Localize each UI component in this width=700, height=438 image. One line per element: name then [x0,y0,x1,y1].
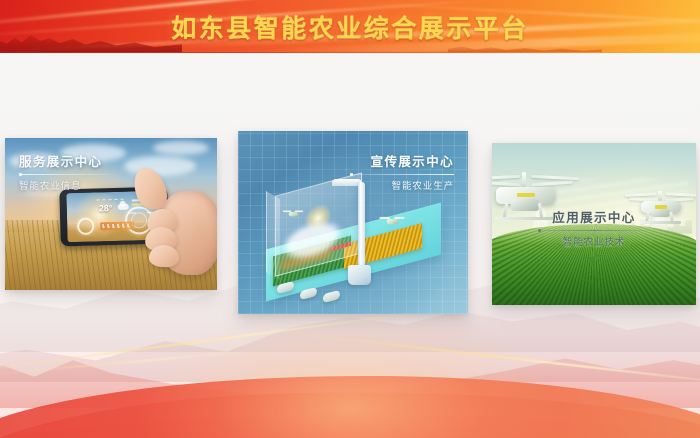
monitoring-pole [358,182,365,268]
card-promotion-inner: 宣传展示中心 智能农业生产 [238,131,468,314]
drone-icon [380,215,403,226]
card-service-subtitle: 智能农业信息 [19,178,115,192]
drone-mast [658,191,662,202]
card-promotion-caption: 宣传展示中心 智能农业生产 [350,151,454,192]
card-service-inner: 28° [5,138,217,290]
drone-body [386,219,398,224]
card-service-display-center[interactable]: 28° [5,138,217,290]
card-promotion-display-center[interactable]: 宣传展示中心 智能农业生产 [238,131,468,314]
drone-rotor [492,175,520,180]
card-application-title: 应用展示中心 [492,207,696,226]
card-application-caption: 应用展示中心 智能农业技术 [492,207,696,248]
caption-divider [538,230,650,231]
card-service-title: 服务展示中心 [19,151,115,170]
title-banner: 如东县智能农业综合展示平台 [0,0,700,53]
card-service-caption: 服务展示中心 智能农业信息 [19,151,115,192]
hud-temperature-readout: 28° [99,203,113,213]
drone-body [288,212,297,216]
caption-divider [350,174,454,175]
pole-equipment-box [348,265,371,285]
drone-accent-stripe [517,193,535,197]
drone-icon [283,209,302,218]
drone-mast [522,172,526,188]
caption-divider [19,174,115,175]
divider-dot [350,173,353,176]
smart-agriculture-platform-page: 如东县智能农业综合展示平台 28° [0,0,700,438]
card-promotion-title: 宣传展示中心 [350,151,454,170]
card-application-display-center[interactable]: 应用展示中心 智能农业技术 [492,143,696,305]
card-promotion-subtitle: 智能农业生产 [350,178,454,192]
cloud-icon [118,204,129,210]
card-application-inner: 应用展示中心 智能农业技术 [492,143,696,305]
page-title: 如东县智能农业综合展示平台 [0,0,700,53]
card-application-subtitle: 智能农业技术 [492,234,696,248]
divider-dot [19,173,22,176]
hand-holding-phone [129,165,217,277]
hud-gauge-ring-small [77,218,94,235]
divider-dot [538,229,541,232]
